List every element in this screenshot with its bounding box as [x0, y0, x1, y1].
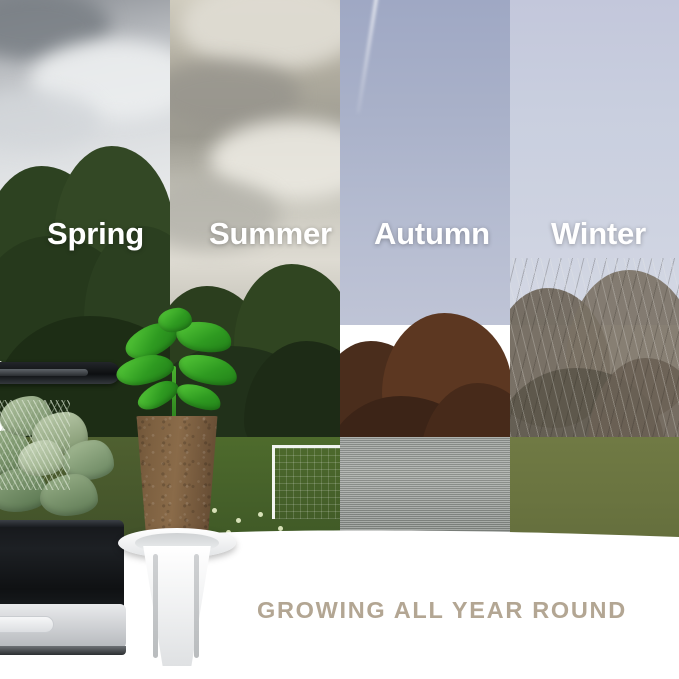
herb-cluster — [0, 378, 134, 526]
grow-basket-cone — [141, 546, 213, 666]
unit-light-slot — [0, 616, 54, 633]
sky-autumn — [340, 0, 510, 325]
ground-winter — [510, 437, 679, 560]
season-label-summer: Summer — [209, 216, 332, 252]
season-label-spring: Spring — [47, 216, 144, 252]
frost-texture — [340, 437, 510, 560]
season-panel-winter — [510, 0, 679, 560]
soil-grow-plug — [133, 416, 221, 538]
ground-autumn — [340, 437, 510, 560]
seedling — [120, 322, 270, 432]
unit-base-shadow — [0, 646, 126, 655]
season-label-autumn: Autumn — [374, 216, 490, 252]
season-panel-autumn — [340, 0, 510, 560]
tagline: GROWING ALL YEAR ROUND — [257, 597, 627, 624]
contrail — [357, 0, 379, 113]
hydroponic-unit-body — [0, 520, 124, 616]
marketing-image: Spring Summer Autumn Winter GROWING ALL … — [0, 0, 679, 679]
season-label-winter: Winter — [551, 216, 646, 252]
product-foreground — [0, 352, 300, 679]
